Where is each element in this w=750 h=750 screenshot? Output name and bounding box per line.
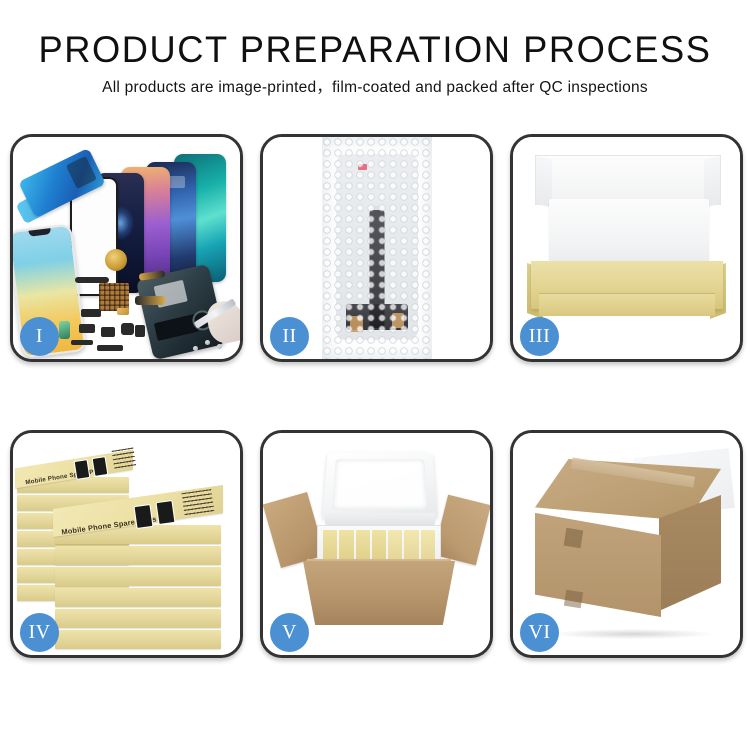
step-panel-5[interactable]: V [260, 430, 493, 658]
box-print-phone-icon [92, 456, 109, 477]
box-lid-icon [535, 155, 721, 205]
step-panel-4[interactable]: Mobile Phone Spare Parts Mobile [10, 430, 243, 658]
carton-flap-right [433, 495, 490, 566]
screw-icon [205, 340, 210, 345]
carton-mark [564, 528, 584, 548]
flex-cable-icon [135, 296, 165, 305]
tape-icon [392, 313, 404, 328]
screw-icon [217, 344, 222, 349]
page-subtitle: All products are image-printed，film-coat… [0, 79, 750, 98]
box-print-textblock [112, 447, 137, 470]
page-title: PRODUCT PREPARATION PROCESS [8, 31, 743, 70]
small-part-icon [117, 308, 129, 315]
label-sticker-icon [358, 164, 367, 170]
chip-grid-icon [99, 283, 129, 311]
small-part-icon [81, 309, 101, 317]
speaker-coil-icon [105, 249, 127, 271]
carton-flap-left [263, 492, 325, 568]
stacked-box [55, 588, 221, 607]
tape-icon [350, 316, 363, 332]
stacked-box [55, 609, 221, 628]
flex-cable-icon [75, 277, 109, 283]
step-panel-6[interactable]: VI [510, 430, 743, 658]
step-panel-3[interactable]: III [510, 134, 743, 362]
header: PRODUCT PREPARATION PROCESS All products… [0, 0, 750, 97]
small-part-icon [71, 340, 93, 345]
step-badge-3: III [520, 317, 559, 356]
step-badge-5: V [270, 613, 309, 652]
step-panel-2[interactable]: II [260, 134, 493, 362]
stacked-box [55, 546, 221, 565]
page-root: PRODUCT PREPARATION PROCESS All products… [0, 0, 750, 750]
bubble-wrap-sheet [322, 137, 432, 359]
carton-body [303, 561, 455, 625]
speaker-icon [97, 345, 123, 351]
step-badge-4: IV [20, 613, 59, 652]
screw-icon [193, 346, 198, 351]
small-part-icon [121, 323, 134, 335]
box-print-phone-icon [74, 459, 91, 480]
box-print-phone-icon [133, 504, 153, 529]
stacked-box [55, 630, 221, 649]
foam-lid-icon [322, 452, 438, 519]
carton-shadow [553, 629, 713, 639]
carton-front-face [535, 505, 661, 617]
camera-part-icon [59, 321, 70, 339]
process-grid: I II [10, 134, 743, 658]
small-part-icon [135, 325, 145, 337]
carton-mark [564, 590, 583, 608]
step-badge-1: I [20, 317, 59, 356]
step-panel-1[interactable]: I [10, 134, 243, 362]
stacked-box [55, 567, 221, 586]
box-print-phone-icon [155, 500, 175, 525]
step-badge-2: II [270, 317, 309, 356]
foam-sheet-icon [549, 199, 709, 267]
wrapped-screen-icon [336, 154, 418, 340]
small-part-icon [79, 324, 95, 333]
small-part-icon [101, 327, 115, 337]
yellow-box-front [539, 293, 715, 316]
box-print-textblock [181, 489, 214, 517]
step-badge-6: VI [520, 613, 559, 652]
